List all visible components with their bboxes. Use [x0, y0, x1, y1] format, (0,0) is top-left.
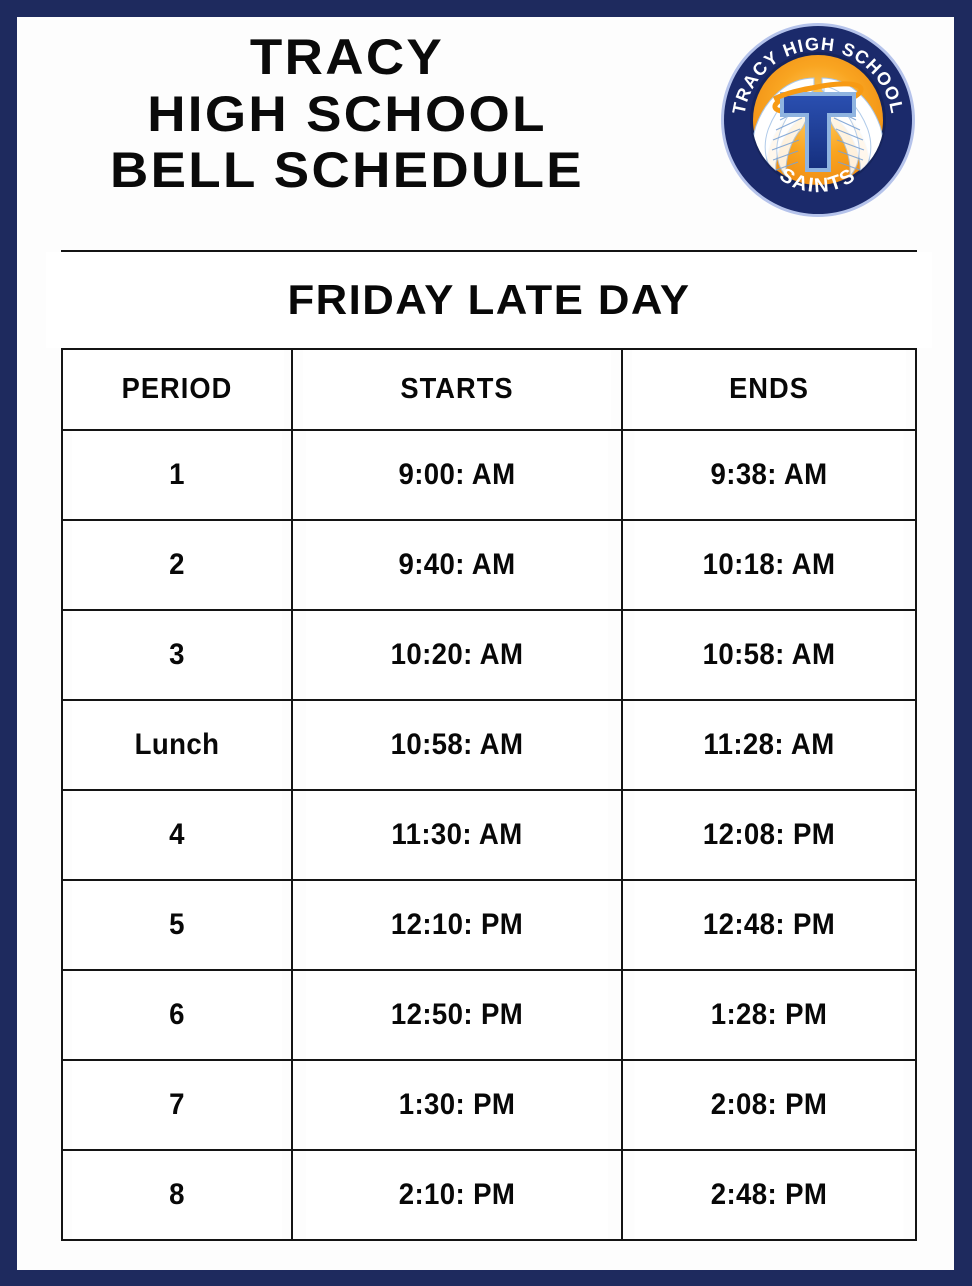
cell-starts: 9:40: AM [305, 520, 609, 610]
cell-period: 1 [71, 430, 283, 520]
table-row: 3 10:20: AM 10:58: AM [62, 610, 916, 700]
cell-ends: 12:08: PM [634, 790, 905, 880]
cell-period: 7 [71, 1060, 283, 1150]
table-row: 1 9:00: AM 9:38: AM [62, 430, 916, 520]
table-row: 6 12:50: PM 1:28: PM [62, 970, 916, 1060]
table-row: 5 12:10: PM 12:48: PM [62, 880, 916, 970]
cell-period: Lunch [71, 700, 283, 790]
column-header-period: PERIOD [69, 349, 285, 430]
poster-sheet: TRACY HIGH SCHOOL BELL SCHEDULE [17, 17, 954, 1270]
cell-period: 5 [71, 880, 283, 970]
column-header-starts: STARTS [302, 349, 612, 430]
cell-starts: 1:30: PM [305, 1060, 609, 1150]
bell-schedule-table: FRIDAY LATE DAY PERIOD STARTS ENDS 1 9:0… [61, 250, 917, 1241]
table-row: Lunch 10:58: AM 11:28: AM [62, 700, 916, 790]
cell-starts: 10:58: AM [305, 700, 609, 790]
cell-starts: 10:20: AM [305, 610, 609, 700]
table-row: 4 11:30: AM 12:08: PM [62, 790, 916, 880]
school-logo: TRACY HIGH SCHOOL SAINTS [718, 20, 918, 220]
title-line-3: BELL SCHEDULE [17, 142, 697, 199]
cell-ends: 10:58: AM [634, 610, 905, 700]
cell-starts: 2:10: PM [305, 1150, 609, 1240]
cell-period: 2 [71, 520, 283, 610]
cell-starts: 12:50: PM [305, 970, 609, 1060]
cell-ends: 2:48: PM [634, 1150, 905, 1240]
day-label: FRIDAY LATE DAY [45, 251, 933, 349]
cell-ends: 1:28: PM [634, 970, 905, 1060]
title-line-2: HIGH SCHOOL [17, 86, 697, 143]
poster-header: TRACY HIGH SCHOOL BELL SCHEDULE [17, 17, 954, 242]
cell-period: 4 [71, 790, 283, 880]
title-line-1: TRACY [17, 29, 697, 86]
day-banner-row: FRIDAY LATE DAY [62, 251, 916, 349]
cell-period: 6 [71, 970, 283, 1060]
cell-ends: 11:28: AM [634, 700, 905, 790]
cell-ends: 10:18: AM [634, 520, 905, 610]
table-row: 2 9:40: AM 10:18: AM [62, 520, 916, 610]
poster-frame: TRACY HIGH SCHOOL BELL SCHEDULE [0, 0, 972, 1286]
cell-ends: 2:08: PM [634, 1060, 905, 1150]
cell-starts: 12:10: PM [305, 880, 609, 970]
cell-period: 8 [71, 1150, 283, 1240]
cell-starts: 9:00: AM [305, 430, 609, 520]
cell-period: 3 [71, 610, 283, 700]
cell-starts: 11:30: AM [305, 790, 609, 880]
table-row: 8 2:10: PM 2:48: PM [62, 1150, 916, 1240]
cell-ends: 12:48: PM [634, 880, 905, 970]
cell-ends: 9:38: AM [634, 430, 905, 520]
page-title: TRACY HIGH SCHOOL BELL SCHEDULE [17, 29, 677, 199]
column-header-ends: ENDS [631, 349, 907, 430]
column-header-row: PERIOD STARTS ENDS [62, 349, 916, 430]
table-row: 7 1:30: PM 2:08: PM [62, 1060, 916, 1150]
